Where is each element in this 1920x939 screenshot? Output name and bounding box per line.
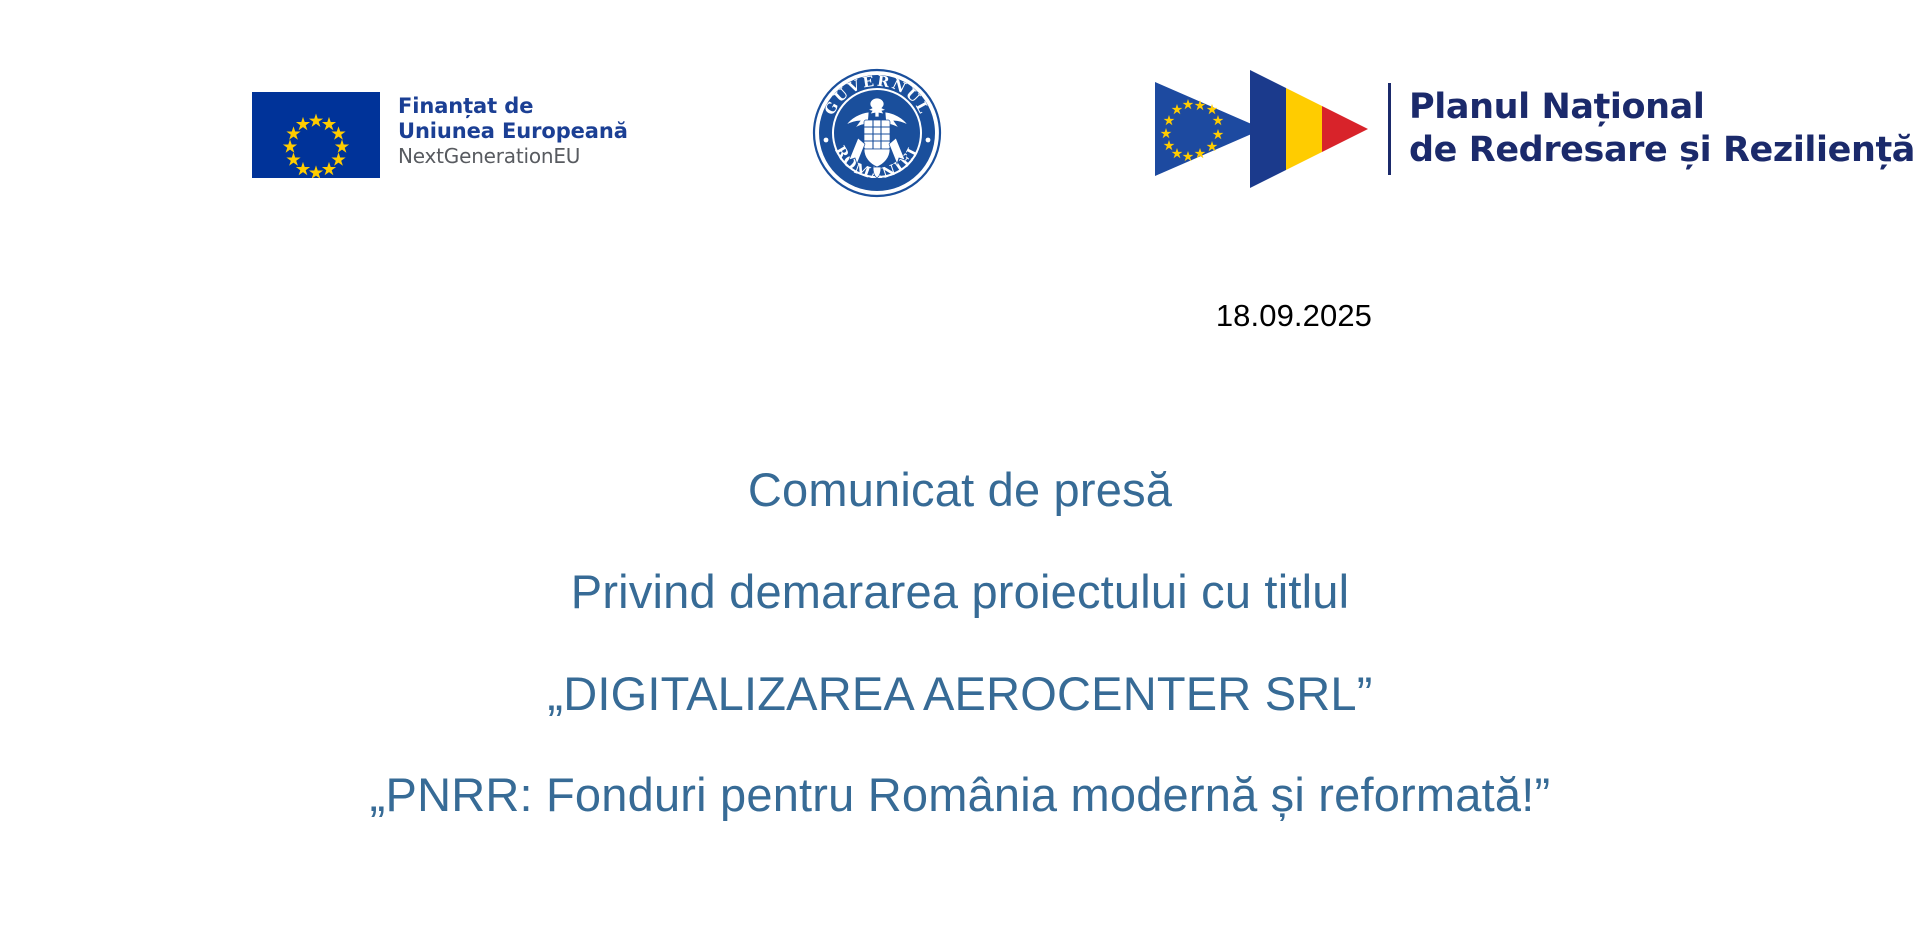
logo-strip: Finanțat de Uniunea Europeană NextGenera…	[0, 0, 1920, 230]
pnrr-divider	[1388, 83, 1391, 175]
eu-logo-line2: Uniunea Europeană	[398, 119, 628, 144]
press-release-slide: Finanțat de Uniunea Europeană NextGenera…	[0, 0, 1920, 939]
headline-line-1: Comunicat de presă	[0, 462, 1920, 517]
pnrr-logo-text: Planul Național de Redresare și Rezilien…	[1409, 86, 1915, 171]
headline-line-3: „DIGITALIZAREA AEROCENTER SRL”	[0, 666, 1920, 721]
eu-logo-line1: Finanțat de	[398, 94, 628, 119]
guvernul-romaniei-seal-icon: GUVERNUL ROMÂNIEI	[812, 68, 942, 198]
eu-flag-icon	[252, 92, 380, 178]
headline-line-2: Privind demararea proiectului cu titlul	[0, 564, 1920, 619]
pnrr-arrows-icon	[1155, 70, 1380, 188]
pnrr-logo-line1: Planul Național	[1409, 86, 1915, 129]
press-release-headline-block: Comunicat de presă Privind demararea pro…	[0, 462, 1920, 822]
headline-line-4: „PNRR: Fonduri pentru România modernă și…	[0, 767, 1920, 822]
eu-nextgeneration-logo: Finanțat de Uniunea Europeană NextGenera…	[252, 92, 628, 178]
eu-logo-text: Finanțat de Uniunea Europeană NextGenera…	[398, 92, 628, 168]
eu-stars-icon	[252, 92, 380, 178]
document-date: 18.09.2025	[1216, 298, 1372, 334]
eu-logo-line3: NextGenerationEU	[398, 144, 628, 169]
pnrr-logo: Planul Național de Redresare și Rezilien…	[1155, 70, 1915, 188]
pnrr-logo-line2: de Redresare și Reziliență	[1409, 129, 1915, 172]
